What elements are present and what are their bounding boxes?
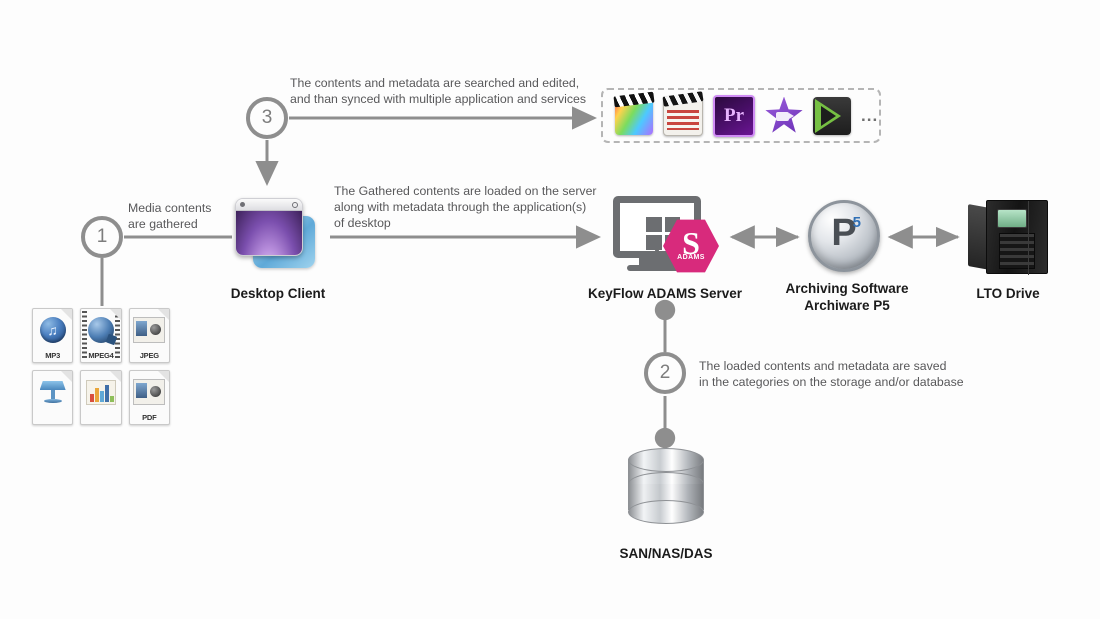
archiving-software-label: Archiving Software Archiware P5 [764,280,930,314]
step-number: 2 [660,362,671,384]
file-type-label: PDF [130,413,169,422]
imovie-icon [765,97,803,135]
quicktime-icon [81,314,120,346]
tape-slot-array [999,233,1035,269]
file-icon-row: ♫ MP3 MPEG4 JPEG [32,308,170,363]
server-label: KeyFlow ADAMS Server [565,285,765,302]
audio-file-icon: ♫ MP3 [32,308,73,363]
file-type-label: MP3 [33,351,72,360]
pdf-file-icon: PDF [129,370,170,425]
step-number: 3 [262,107,273,129]
workflow-diagram: 1 2 3 Media contents are gathered The lo… [0,0,1100,619]
image-file-icon: JPEG [129,308,170,363]
applications-group: Pr ... [601,88,881,143]
keyflow-adams-server-icon: S ADAMS [613,196,723,276]
edius-icon [813,97,851,135]
storage-database-icon [628,448,704,534]
cabinet-door-seam [1028,201,1029,275]
step-marker-2: 2 [644,352,686,394]
p5-exponent: 5 [853,214,861,231]
desktop-to-server-note: The Gathered contents are loaded on the … [334,183,597,231]
adobe-premiere-icon: Pr [713,95,755,137]
monitor-power-dot [655,249,659,253]
lcd-display [997,209,1027,228]
video-file-icon: MPEG4 [80,308,121,363]
storage-label: SAN/NAS/DAS [586,545,746,562]
file-icon-row: PDF [32,370,170,425]
step-1-note: Media contents are gathered [128,200,211,232]
camera-shape [776,112,789,121]
foreground-window [235,198,303,256]
window-titlebar [236,199,302,211]
cabinet-body [986,200,1048,274]
file-type-label: JPEG [130,351,169,360]
window-wallpaper [236,211,302,256]
step-number: 1 [97,226,108,248]
ellipsis-icon: ... [861,107,878,124]
final-cut-pro-x-icon [615,97,653,135]
final-cut-pro-7-icon [663,96,703,136]
step-marker-3: 3 [246,97,288,139]
disc-platter-top [628,448,704,472]
podium-icon [33,376,72,408]
media-file-icons: ♫ MP3 MPEG4 JPEG [32,308,170,432]
adams-hexagon-badge: S ADAMS [663,218,719,274]
music-note-icon: ♫ [33,314,72,346]
photo-icon [130,314,169,346]
step-3-note: The contents and metadata are searched a… [290,75,586,107]
disc-platter-bottom [628,500,704,524]
lto-drive-icon [968,200,1048,274]
chart-file-icon [80,370,121,425]
bar-chart-icon [81,376,120,408]
archiware-p5-icon: P 5 [808,200,880,272]
lto-drive-label: LTO Drive [948,285,1068,302]
step-2-note: The loaded contents and metadata are sav… [699,358,964,390]
photo-icon [130,376,169,408]
file-type-label: MPEG4 [81,351,120,360]
keynote-file-icon [32,370,73,425]
desktop-client-icon [235,198,317,270]
desktop-client-label: Desktop Client [198,285,358,302]
step-marker-1: 1 [81,216,123,258]
p5-letter: P [811,214,877,252]
adams-badge-name: ADAMS [663,254,719,261]
